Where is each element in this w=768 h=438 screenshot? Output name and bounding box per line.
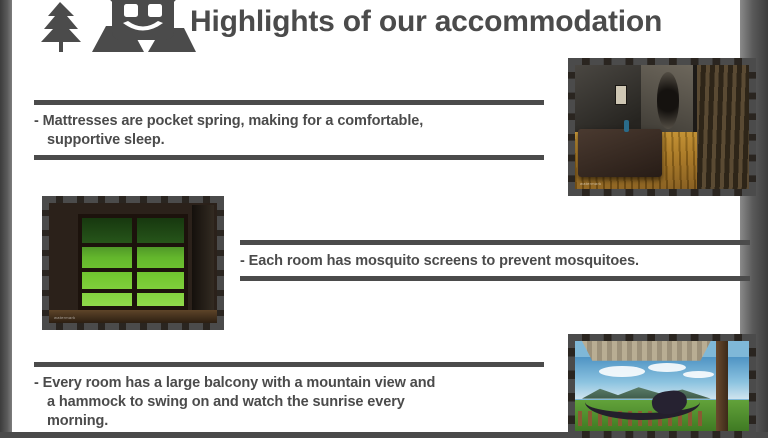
window-frame (78, 214, 189, 310)
bullet-rule-top (240, 240, 750, 245)
window-rail (78, 289, 189, 294)
bullet-line-1: - Mattresses are pocket spring, making f… (34, 113, 423, 129)
hammock-cloud (648, 363, 686, 372)
photo-window-image: watermark (49, 203, 217, 323)
photo-watermark: watermark (580, 181, 601, 186)
window-scene-art (49, 203, 217, 323)
hammock-balcony-post (716, 341, 728, 431)
window-rail (78, 268, 189, 273)
window-rail (78, 243, 189, 248)
bullet-block-screens: - Each room has mosquito screens to prev… (240, 240, 750, 281)
photo-window: watermark (42, 196, 224, 330)
bedroom-curtain (697, 65, 749, 189)
photo-watermark: watermark (54, 315, 75, 320)
window-center-mullion (132, 214, 138, 310)
window-curtain (192, 205, 214, 318)
photo-bedroom-image: watermark (575, 65, 749, 189)
hammock-balcony-roof (582, 341, 711, 361)
bullet-rule-top (34, 100, 544, 105)
bullet-rule-bottom (34, 155, 544, 160)
bullet-line-1: - Every room has a large balcony with a … (34, 375, 435, 391)
hammock-cloud (599, 366, 644, 377)
bullet-text-mattress: - Mattresses are pocket spring, making f… (34, 112, 544, 150)
bullet-block-mattress: - Mattresses are pocket spring, making f… (34, 100, 544, 160)
bullet-block-balcony: - Every room has a large balcony with a … (34, 362, 544, 431)
page-title: Highlights of our accommodation (190, 0, 730, 44)
bedroom-scene-art (575, 65, 749, 189)
bullet-line-2: supportive sleep. (36, 131, 544, 150)
bullet-text-balcony: - Every room has a large balcony with a … (34, 374, 544, 431)
bedroom-lamp (624, 120, 629, 132)
hammock-cloud (683, 371, 714, 378)
bullet-line-3: morning. (36, 412, 544, 431)
photo-hammock-image (575, 341, 749, 431)
slide-header: Highlights of our accommodation (12, 0, 740, 52)
bedroom-mattress (578, 129, 662, 176)
bullet-line-2: a hammock to swing on and watch the sunr… (36, 393, 544, 412)
bullet-rule-top (34, 362, 544, 367)
photo-bedroom: watermark (568, 58, 756, 196)
hammock-scene-art (575, 341, 749, 431)
slide-canvas: Highlights of our accommodation - Mattre… (12, 0, 740, 432)
bedroom-wall-picture (615, 85, 627, 105)
slide-left-edge (0, 0, 12, 432)
photo-hammock (568, 334, 756, 438)
bullet-text-screens: - Each room has mosquito screens to prev… (240, 252, 750, 271)
bullet-rule-bottom (240, 276, 750, 281)
bullet-line-1: - Each room has mosquito screens to prev… (240, 253, 639, 269)
pine-tree-and-smiling-tent-logo-icon (26, 0, 198, 54)
slide-frame: Highlights of our accommodation - Mattre… (0, 0, 768, 432)
